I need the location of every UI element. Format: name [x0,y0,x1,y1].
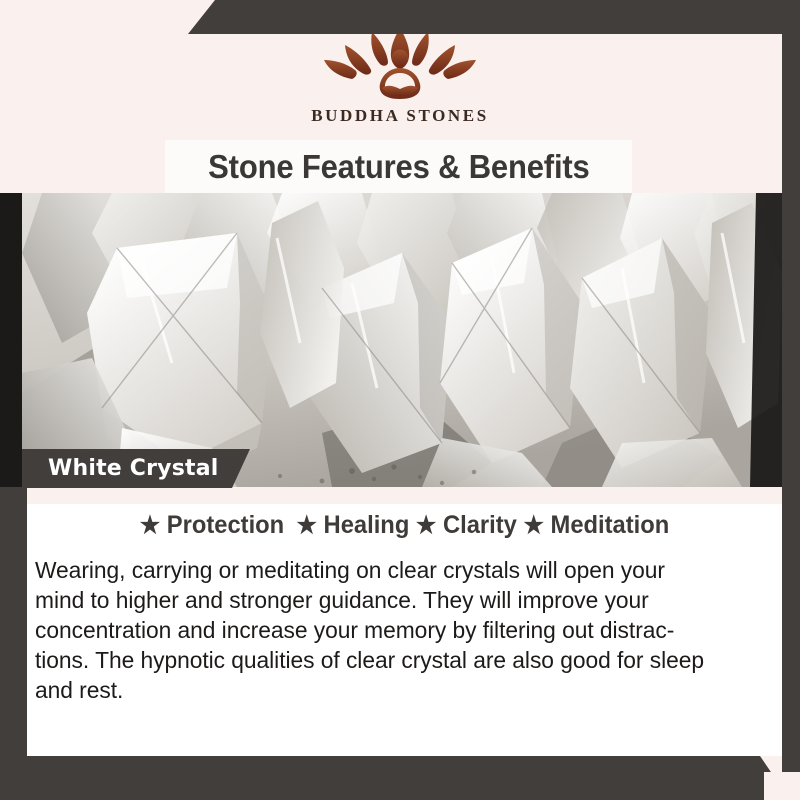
stone-name: White Crystal [22,456,219,481]
description-line-2: concentration and increase your memory b… [35,615,751,645]
description-text: Wearing, carrying or meditating on clear… [35,555,751,705]
crystal-photo [22,193,782,487]
benefit-item-3: ★ Meditation [524,511,670,539]
benefit-label-3: Meditation [551,511,670,539]
benefit-item-2: ★ Clarity [416,511,517,539]
frame-bottom-right-notch [764,772,800,800]
benefit-label-1: Healing [324,511,410,539]
star-icon: ★ [140,512,160,539]
benefit-item-1: ★ Healing [296,511,409,539]
frame-left-lower-bar [0,487,27,800]
title-banner: Stone Features & Benefits [165,140,632,193]
lotus-meditation-figure-icon [310,24,490,104]
description-line-4: and rest. [35,675,751,705]
content-panel: ★ Protection ★ Healing ★ Clarity ★ Medit… [27,487,782,756]
description-line-1: mind to higher and stronger guidance. Th… [35,585,751,615]
page-title: Stone Features & Benefits [208,148,589,186]
description-line-3: tions. The hypnotic qualities of clear c… [35,645,751,675]
benefits-list: ★ Protection ★ Healing ★ Clarity ★ Medit… [46,511,763,540]
star-icon: ★ [524,512,544,539]
frame-left-photo-edge [0,193,22,489]
stone-name-tag: White Crystal [22,449,250,488]
benefit-label-2: Clarity [443,511,517,539]
description-line-0: Wearing, carrying or meditating on clear… [35,555,751,585]
benefit-label-0: Protection [167,511,284,539]
brand-name: BUDDHA STONES [311,106,489,126]
frame-right-bar [782,0,800,800]
poster-root: BUDDHA STONES Stone Features & Benefits [0,0,800,800]
star-icon: ★ [296,512,316,539]
star-icon: ★ [416,512,436,539]
frame-bottom-bar [0,756,800,800]
brand-logo: BUDDHA STONES [0,24,800,136]
content-top-strip [27,487,782,504]
benefit-item-0: ★ Protection [140,511,284,539]
